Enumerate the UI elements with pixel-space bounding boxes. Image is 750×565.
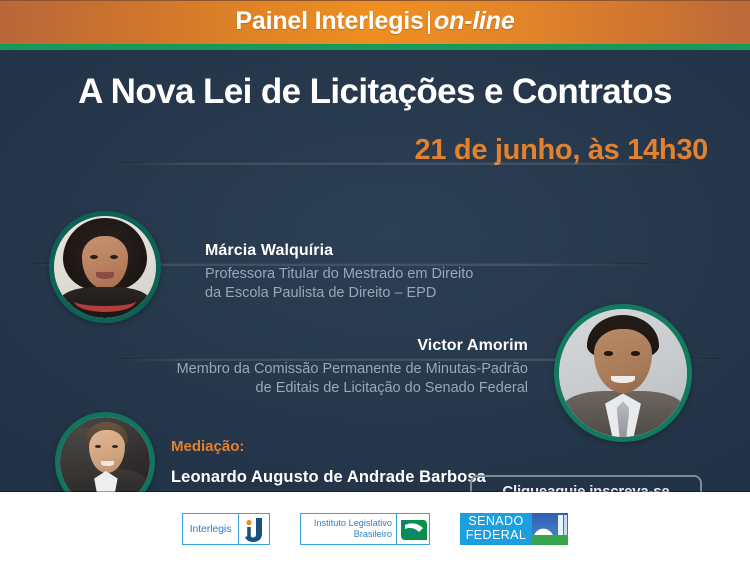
mediation-label: Mediação: [171,438,244,455]
interlegis-j-mark-icon [238,514,269,544]
logo-senado-label-line-2: FEDERAL [466,529,526,543]
header-title-italic: on-line [434,7,515,35]
logo-senado-label-line-1: SENADO [468,515,523,529]
cta-text-after: e inscreva-se [577,483,669,492]
senado-congresso-mark-icon [532,513,568,545]
photo-eye-right [112,445,118,448]
cta-text-before: Clique [502,483,547,492]
main-panel: A Nova Lei de Licitações e Contratos 21 … [0,50,750,492]
logo-ilb-label-line-1: Instituto Legislativo [314,518,392,529]
avatar-photo [60,417,150,492]
logo-ilb-label-line-2: Brasileiro [354,529,392,540]
photo-smile [101,461,115,466]
photo-eye-left [90,255,98,259]
header-bar: Painel Interlegis|on-line [0,0,750,44]
cta-link-word[interactable]: aqui [547,483,577,492]
register-button[interactable]: Clique aqui e inscreva-se [470,475,702,492]
avatar-victor-amorim [554,304,692,442]
speaker-role-line-2: de Editais de Licitação do Senado Federa… [177,379,528,398]
photo-face [89,430,125,473]
header-title-separator: | [424,7,434,35]
logo-senado-federal[interactable]: SENADO FEDERAL [460,513,568,545]
photo-face [594,329,653,393]
header-title: Painel Interlegis|on-line [0,7,750,36]
ilb-book-mark-icon [396,514,429,544]
speaker-name-marcia: Márcia Walquíria [205,242,333,260]
page-title: A Nova Lei de Licitações e Contratos [0,72,750,112]
speaker-role-line-1: Membro da Comissão Permanente de Minutas… [177,360,528,379]
logo-ilb-label: Instituto Legislativo Brasileiro [301,514,396,544]
avatar-photo [559,309,687,437]
speaker-role-line-1: Professora Titular do Mestrado em Direit… [205,265,473,284]
speaker-role-marcia: Professora Titular do Mestrado em Direit… [205,265,473,303]
speaker-role-victor: Membro da Comissão Permanente de Minutas… [177,360,528,398]
logo-interlegis[interactable]: Interlegis [182,513,270,545]
photo-eye-left [604,351,613,355]
divider-line-1 [120,162,680,165]
speaker-name-victor: Victor Amorim [417,337,528,355]
avatar-leonardo-barbosa [55,412,155,492]
photo-necklace [74,289,135,311]
logo-interlegis-label: Interlegis [183,514,238,544]
footer-logo-bar: Interlegis Instituto Legislativo Brasile… [0,492,750,565]
photo-eye-left [95,445,101,448]
avatar-photo [54,216,156,318]
logo-instituto-legislativo-brasileiro[interactable]: Instituto Legislativo Brasileiro [300,513,430,545]
avatar-marcia-walquiria [49,211,161,323]
logo-senado-label: SENADO FEDERAL [460,513,532,545]
event-poster: Painel Interlegis|on-line A Nova Lei de … [0,0,750,565]
mediator-name: Leonardo Augusto de Andrade Barbosa [171,468,486,487]
photo-eye-right [110,255,118,259]
speaker-role-line-2: da Escola Paulista de Direito – EPD [205,284,473,303]
header-title-main: Painel Interlegis [235,7,423,35]
photo-eye-right [631,351,640,355]
